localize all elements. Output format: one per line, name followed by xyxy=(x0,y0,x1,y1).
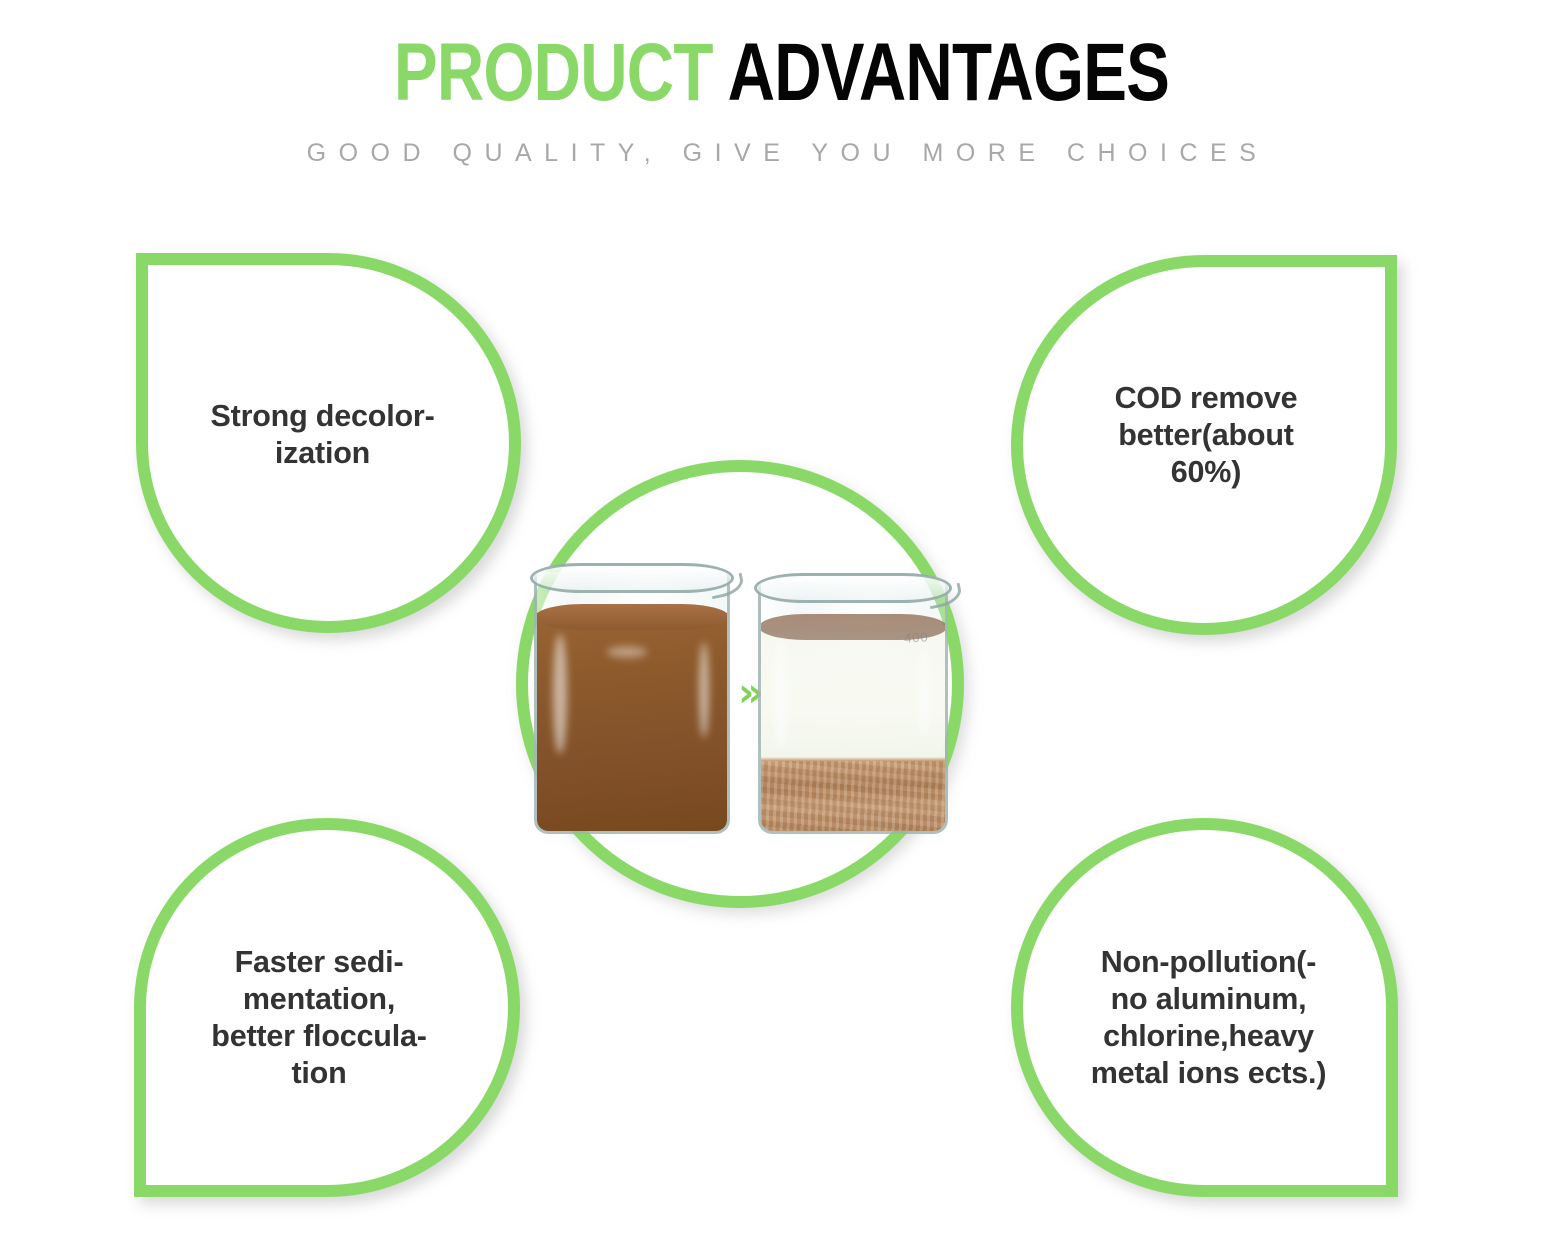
liquid-surface xyxy=(535,604,729,630)
page-title-green-part: PRODUCT xyxy=(394,27,713,118)
beaker-liquid-clear xyxy=(761,625,945,831)
advantage-card-strong-decolorization[interactable]: Strong decolor- ization xyxy=(136,253,521,633)
glass-highlight xyxy=(553,634,567,754)
treated-water-beaker: 400 xyxy=(758,582,948,834)
before-after-beakers-image: » 400 xyxy=(516,460,964,908)
page-title: PRODUCT ADVANTAGES xyxy=(156,30,1406,116)
advantage-card-faster-sedimentation[interactable]: Faster sedi- mentation, better floccula-… xyxy=(134,818,520,1197)
untreated-wastewater-beaker xyxy=(534,572,730,834)
page-subtitle: GOOD QUALITY, GIVE YOU MORE CHOICES xyxy=(0,138,1563,168)
beaker-glass-body: 400 xyxy=(758,582,948,834)
glass-highlight xyxy=(607,646,647,658)
floc-sediment-layer xyxy=(761,761,945,831)
page-title-black-word: ADVANTAGES xyxy=(728,27,1170,118)
header: PRODUCT ADVANTAGES GOOD QUALITY, GIVE YO… xyxy=(0,0,1563,168)
graduation-marking: 400 xyxy=(904,629,930,646)
glass-highlight xyxy=(919,648,929,736)
advantage-card-label: COD remove better(about 60%) xyxy=(1089,380,1324,491)
infographic-page: PRODUCT ADVANTAGES GOOD QUALITY, GIVE YO… xyxy=(0,0,1563,1258)
advantage-card-non-pollution[interactable]: Non-pollution(- no aluminum, chlorine,he… xyxy=(1011,818,1398,1197)
glass-highlight xyxy=(775,640,787,750)
beaker-rim xyxy=(530,563,734,593)
advantage-card-label: Faster sedi- mentation, better floccula-… xyxy=(185,944,452,1092)
advantage-card-cod-remove[interactable]: COD remove better(about 60%) xyxy=(1011,255,1397,635)
beaker-rim xyxy=(754,573,952,603)
beaker-glass-body xyxy=(534,572,730,834)
advantage-card-label: Non-pollution(- no aluminum, chlorine,he… xyxy=(1065,944,1353,1092)
page-title-black-part xyxy=(713,27,728,118)
beaker-stage: » 400 xyxy=(530,534,950,834)
advantage-card-label: Strong decolor- ization xyxy=(184,398,460,472)
glass-highlight xyxy=(699,642,709,738)
